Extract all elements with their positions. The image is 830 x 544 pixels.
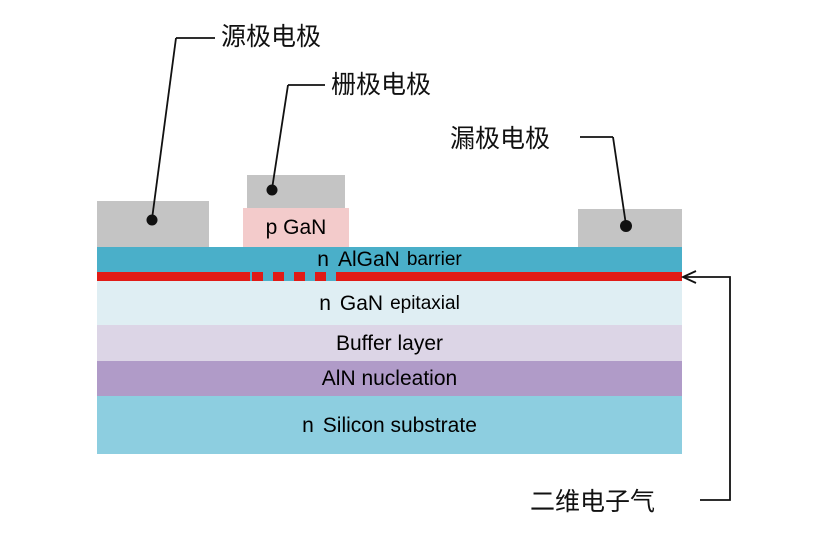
layer-algan-barrier: n AlGaN barrier [97, 247, 682, 272]
layer-silicon-dopant: n [302, 415, 314, 436]
twodeg-dash [336, 272, 346, 281]
twodeg-dash [294, 272, 305, 281]
gate-leader-diagonal [272, 85, 288, 189]
twodeg-dash [315, 272, 326, 281]
twodeg-leader-path [684, 277, 730, 500]
layer-silicon-material: Silicon substrate [323, 415, 477, 436]
layer-gan-material: GaN [340, 293, 383, 314]
p-gan-label: p GaN [266, 217, 327, 238]
layer-aln-nucleation: AlN nucleation [97, 361, 682, 396]
layer-buffer-material: Buffer layer [336, 333, 443, 354]
layer-silicon-substrate: n Silicon substrate [97, 396, 682, 454]
source-electrode [97, 201, 209, 247]
annotation-twodeg: 二维电子气 [530, 489, 655, 514]
twodeg-line [97, 272, 682, 281]
p-gan-gate-block: p GaN [243, 208, 349, 247]
drain-electrode [578, 209, 682, 247]
twodeg-dash [252, 272, 263, 281]
source-leader-diagonal [152, 38, 176, 219]
layer-gan-epitaxial: n GaN epitaxial [97, 281, 682, 325]
layer-gan-suffix: epitaxial [390, 294, 460, 313]
twodeg-dash [273, 272, 284, 281]
layer-algan-suffix: barrier [407, 250, 462, 269]
layer-aln-material: AlN nucleation [322, 368, 457, 389]
annotation-gate-electrode: 栅极电极 [331, 72, 431, 97]
layer-algan-material: AlGaN [338, 249, 400, 270]
layer-gan-dopant: n [319, 293, 331, 314]
layer-buffer: Buffer layer [97, 325, 682, 361]
twodeg-arrow-head-icon [683, 271, 696, 283]
annotation-source-electrode: 源极电极 [221, 24, 321, 49]
gate-electrode [247, 175, 345, 208]
annotation-drain-electrode: 漏极电极 [450, 126, 550, 151]
layer-algan-dopant: n [317, 249, 329, 270]
figure-canvas: n AlGaN barrier n GaN epitaxial Buffer l… [0, 0, 830, 544]
